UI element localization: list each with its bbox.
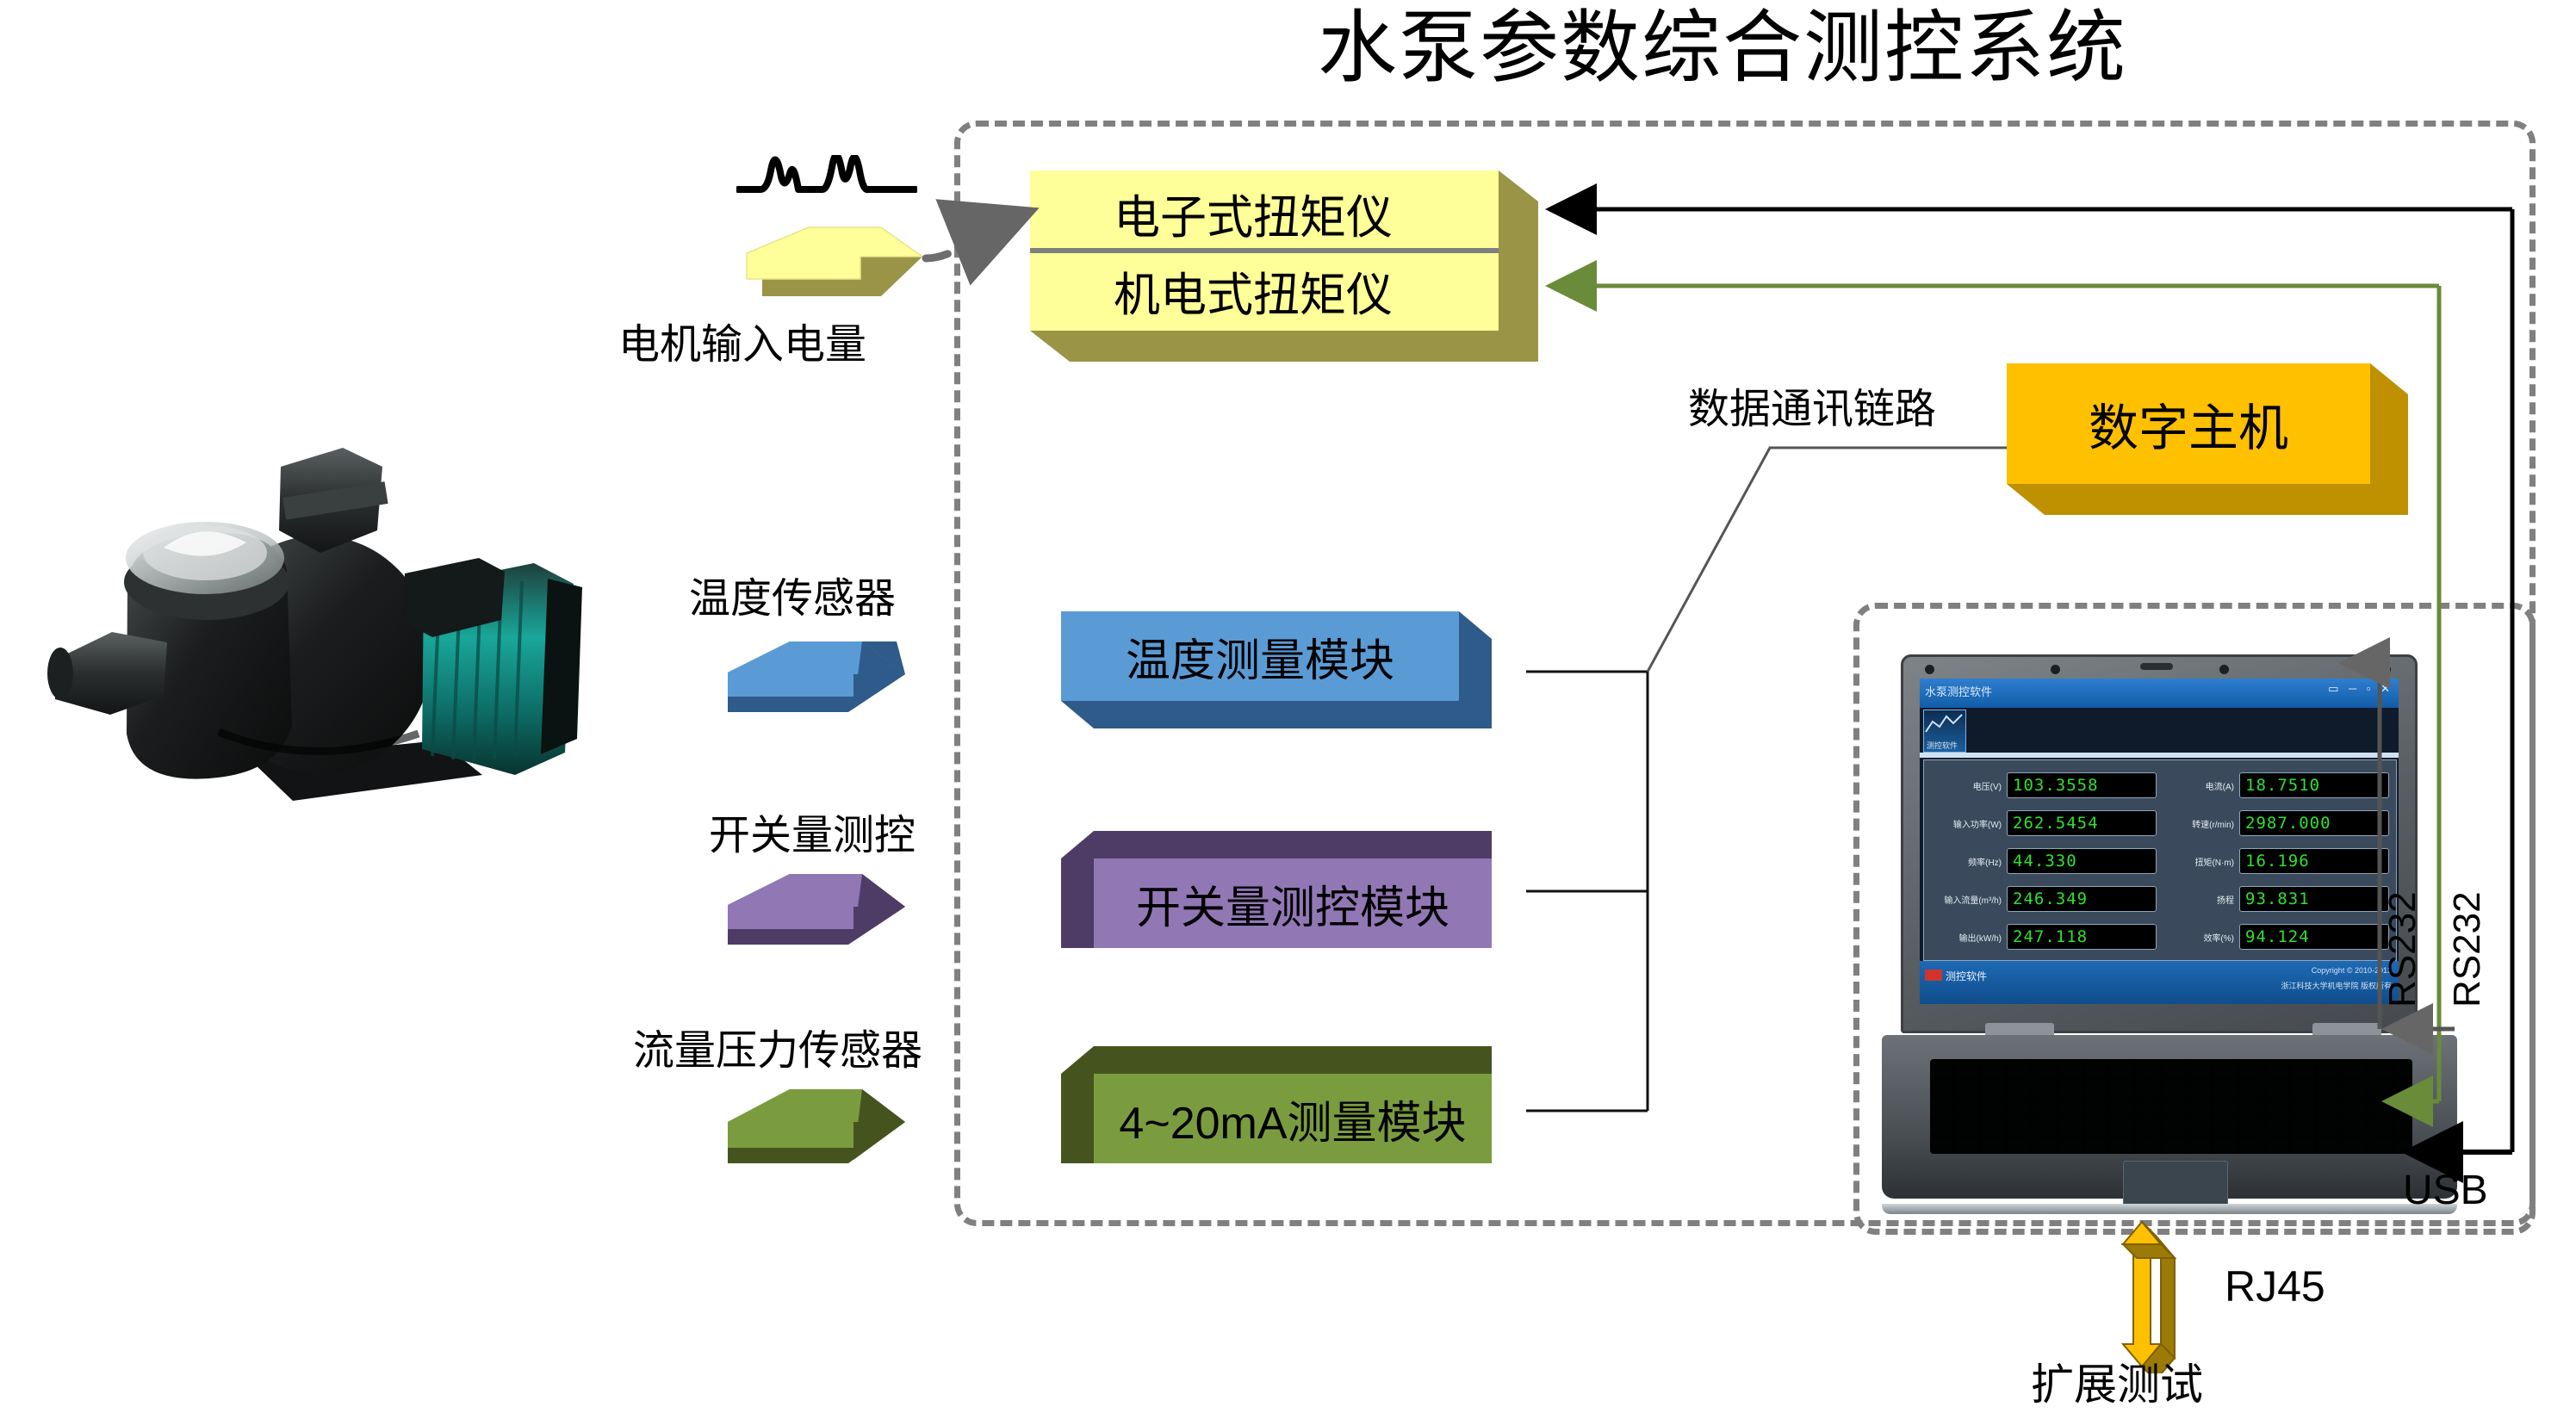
- usb-label: USB: [2403, 1167, 2488, 1214]
- rs232-label-b: RS232: [2446, 891, 2489, 1007]
- connector-wires: [0, 0, 2576, 1413]
- rs232-label-a: RS232: [2381, 891, 2424, 1007]
